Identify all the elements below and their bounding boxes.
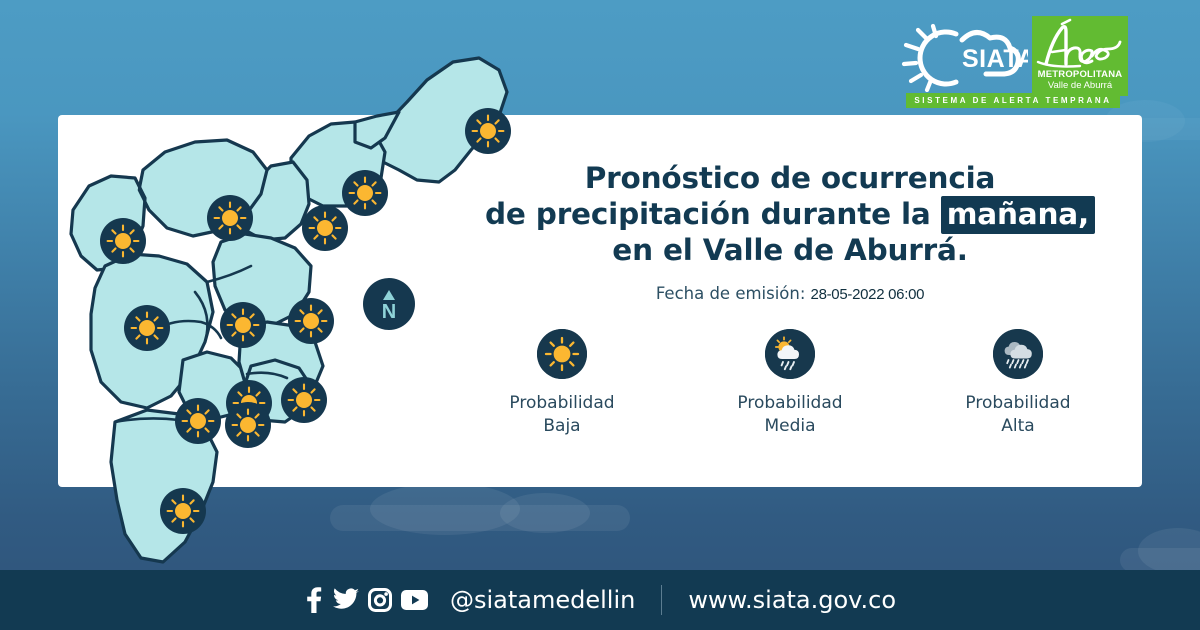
legend-label-line2: Alta: [965, 415, 1070, 438]
page-title: Pronóstico de ocurrencia de precipitació…: [460, 160, 1120, 268]
social-handle[interactable]: @siatamedellin: [450, 586, 635, 614]
station-san-pedro[interactable]: [207, 195, 253, 241]
area-script-icon: [1032, 18, 1128, 72]
area-logo-line2: Valle de Aburrá: [1048, 80, 1112, 91]
station-girardota[interactable]: [342, 170, 388, 216]
station-medellin-cen[interactable]: [124, 305, 170, 351]
station-san-jeronimo[interactable]: [100, 218, 146, 264]
compass-north-badge: N: [363, 278, 415, 330]
legend-label-line2: Media: [737, 415, 842, 438]
sun-rain-cloud-icon: [765, 329, 815, 379]
title-line-2: de precipitación durante la mañana,: [460, 196, 1120, 232]
station-caldas[interactable]: [160, 488, 206, 534]
legend-label-line1: Probabilidad: [965, 392, 1070, 415]
siata-logo: SIATA: [900, 20, 1028, 92]
legend-label-line1: Probabilidad: [737, 392, 842, 415]
legend-item-media: Probabilidad Media: [715, 329, 865, 438]
youtube-icon[interactable]: [401, 590, 428, 610]
title-highlight-period: mañana,: [941, 196, 1095, 234]
legend-label-media: Probabilidad Media: [737, 392, 842, 438]
siata-logo-text: SIATA: [962, 45, 1028, 73]
social-icons: [304, 587, 428, 613]
station-envigado[interactable]: [175, 398, 221, 444]
station-medellin-nor[interactable]: [220, 302, 266, 348]
title-line-2-text: de precipitación durante la: [485, 197, 931, 231]
station-la-estrella[interactable]: [281, 377, 327, 423]
facebook-icon[interactable]: [304, 587, 324, 613]
footer-bar: @siatamedellin www.siata.gov.co: [0, 570, 1200, 630]
website-url[interactable]: www.siata.gov.co: [688, 586, 896, 614]
infographic-canvas: SIATA METROPOLITANA Valle de Aburrá SIST…: [0, 0, 1200, 630]
issue-date-label: Fecha de emisión:: [656, 284, 806, 303]
area-metropolitana-logo: METROPOLITANA Valle de Aburrá: [1032, 16, 1128, 96]
legend-label-alta: Probabilidad Alta: [965, 392, 1070, 438]
station-barbosa[interactable]: [465, 108, 511, 154]
legend-item-alta: Probabilidad Alta: [943, 329, 1093, 438]
twitter-icon[interactable]: [333, 588, 359, 612]
sun-icon: [537, 329, 587, 379]
rain-cloud-icon: [993, 329, 1043, 379]
tagline-bar: SISTEMA DE ALERTA TEMPRANA: [906, 93, 1120, 108]
issue-date-value: 28-05-2022 06:00: [811, 286, 925, 303]
title-line-1: Pronóstico de ocurrencia: [460, 160, 1120, 196]
background-cloud-right: [1120, 548, 1200, 572]
probability-legend: Probabilidad Baja: [460, 329, 1120, 438]
forecast-content: Pronóstico de ocurrencia de precipitació…: [460, 160, 1120, 438]
title-line-3: en el Valle de Aburrá.: [460, 232, 1120, 268]
compass-icon: N: [363, 278, 415, 330]
legend-item-baja: Probabilidad Baja: [487, 329, 637, 438]
footer-divider: [661, 585, 662, 615]
valle-de-aburra-map: N: [55, 30, 525, 585]
station-sabaneta[interactable]: [225, 402, 271, 448]
station-copacabana[interactable]: [302, 205, 348, 251]
legend-label-line1: Probabilidad: [509, 392, 614, 415]
compass-label: N: [382, 301, 396, 323]
legend-label-baja: Probabilidad Baja: [509, 392, 614, 438]
station-bello[interactable]: [288, 298, 334, 344]
issue-date: Fecha de emisión: 28-05-2022 06:00: [460, 284, 1120, 303]
instagram-icon[interactable]: [368, 588, 392, 612]
legend-label-line2: Baja: [509, 415, 614, 438]
